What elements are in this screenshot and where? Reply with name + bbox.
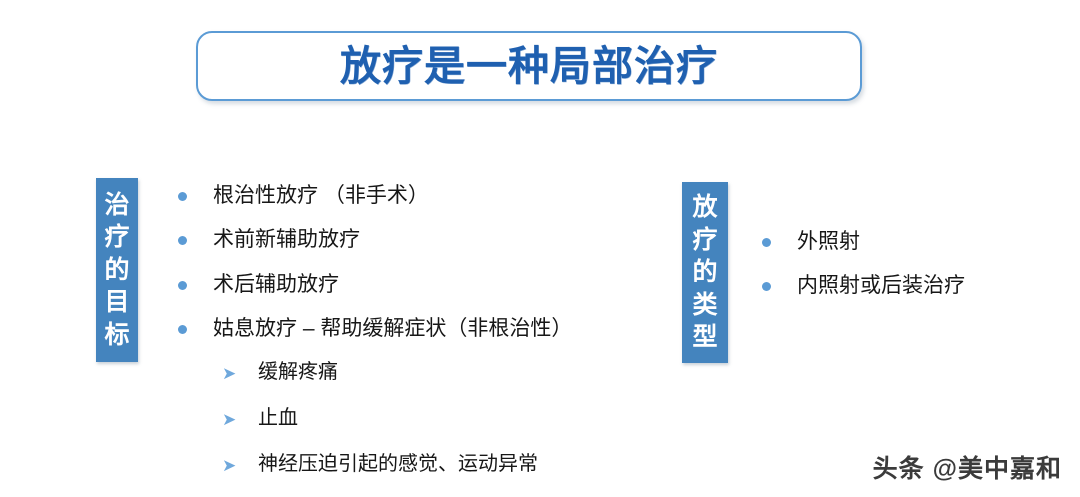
- list-item: 术前新辅助放疗: [178, 226, 648, 254]
- section-label-char: 的: [692, 256, 717, 289]
- sub-list-item-label: 神经压迫引起的感觉、运动异常: [258, 451, 538, 478]
- list-item-label: 内照射或后装治疗: [797, 272, 965, 300]
- sub-list-item-label: 缓解疼痛: [258, 359, 338, 386]
- list-item: 姑息放疗 – 帮助缓解症状（非根治性）: [178, 315, 648, 343]
- slide-title-box: 放疗是一种局部治疗: [196, 31, 862, 101]
- list-item: 外照射: [762, 228, 1052, 256]
- bullet-dot-icon: [178, 281, 187, 290]
- sub-list-item-label: 止血: [258, 405, 298, 432]
- list-item-label: 根治性放疗 （非手术）: [213, 182, 429, 210]
- bullet-dot-icon: [178, 192, 187, 201]
- section-label-char: 型: [692, 321, 717, 354]
- list-item-label: 术后辅助放疗: [213, 271, 339, 299]
- section-label-char: 治: [104, 189, 129, 222]
- section-label-char: 标: [104, 319, 129, 352]
- palliative-sub-list: ➤ 缓解疼痛 ➤ 止血 ➤ 神经压迫引起的感觉、运动异常: [222, 359, 648, 478]
- list-item: 根治性放疗 （非手术）: [178, 182, 648, 210]
- list-item-label: 外照射: [797, 228, 860, 256]
- section-label-char: 的: [104, 254, 129, 287]
- list-item-label: 姑息放疗 – 帮助缓解症状（非根治性）: [213, 315, 572, 343]
- section-label-char: 类: [692, 289, 717, 322]
- section-label-treatment-goals: 治 疗 的 目 标: [96, 178, 138, 362]
- section-label-radiotherapy-types: 放 疗 的 类 型: [682, 182, 728, 363]
- radiotherapy-types-list: 外照射 内照射或后装治疗: [762, 228, 1052, 317]
- page-title: 放疗是一种局部治疗: [340, 46, 718, 87]
- list-item: 内照射或后装治疗: [762, 272, 1052, 300]
- arrow-icon: ➤: [222, 457, 238, 473]
- list-item-label: 术前新辅助放疗: [213, 226, 360, 254]
- sub-list-item: ➤ 缓解疼痛: [222, 359, 648, 386]
- sub-list-item: ➤ 止血: [222, 405, 648, 432]
- section-label-char: 目: [104, 286, 129, 319]
- arrow-icon: ➤: [222, 411, 238, 427]
- bullet-dot-icon: [178, 325, 187, 334]
- watermark: 头条 @美中嘉和: [873, 449, 1062, 485]
- list-item: 术后辅助放疗: [178, 271, 648, 299]
- bullet-dot-icon: [762, 238, 771, 247]
- section-label-char: 疗: [692, 224, 717, 257]
- arrow-icon: ➤: [222, 365, 238, 381]
- sub-list-item: ➤ 神经压迫引起的感觉、运动异常: [222, 451, 648, 478]
- section-label-char: 放: [692, 191, 717, 224]
- bullet-dot-icon: [178, 236, 187, 245]
- treatment-goals-list: 根治性放疗 （非手术） 术前新辅助放疗 术后辅助放疗 姑息放疗 – 帮助缓解症状…: [178, 182, 648, 497]
- bullet-dot-icon: [762, 282, 771, 291]
- section-label-char: 疗: [104, 221, 129, 254]
